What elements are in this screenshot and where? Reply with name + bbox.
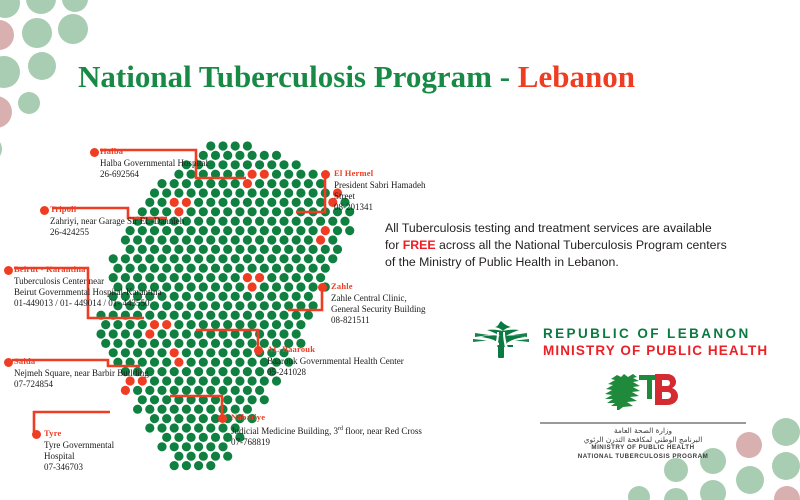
title-red-part: Lebanon <box>518 59 635 94</box>
marker-dot-icon <box>318 283 327 292</box>
center-phone: 07-768819 <box>231 437 422 448</box>
center-phone: 05-241028 <box>267 367 404 378</box>
city-name: AL-Baarouk <box>267 344 404 355</box>
ntp-english-line-2: NATIONAL TUBERCULOSIS PROGRAM <box>523 453 763 462</box>
marker-dot-icon <box>90 148 99 157</box>
ntp-arabic-line-2: البرنامج الوطني لمكافحة التدرن الرئوي <box>523 435 763 444</box>
notice-line-3: of the Ministry of Public Health in Leba… <box>385 255 619 269</box>
center-label-el-hermel: El Hermel President Sabri Hamadeh Street… <box>334 168 425 213</box>
gov-line-1: REPUBLIC OF LEBANON <box>543 325 768 342</box>
city-name: Tyre <box>44 428 114 439</box>
city-name: Zahle <box>331 281 425 292</box>
center-label-nabatiye: Nabatiye Judicial Medicine Building, 3rd… <box>231 412 422 448</box>
city-name: Halba <box>100 146 208 157</box>
city-name: Saida <box>14 356 149 367</box>
gov-line-2: MINISTRY OF PUBLIC HEALTH <box>543 342 768 359</box>
marker-dot-icon <box>254 346 263 355</box>
center-phone: 08-201341 <box>334 202 425 213</box>
center-phone: 26-692564 <box>100 169 208 180</box>
free-services-notice: All Tuberculosis testing and treatment s… <box>385 220 785 271</box>
marker-dot-icon <box>321 170 330 179</box>
center-address: Tyre Governmental <box>44 440 114 451</box>
marker-dot-icon <box>218 414 227 423</box>
poster-canvas: National Tuberculosis Program - Lebanon <box>0 0 800 500</box>
center-label-tripoli: Tripoli Zahriyi, near Garage Sir EL-Dann… <box>50 204 184 238</box>
center-phone: 07-724854 <box>14 379 149 390</box>
ntp-arabic-line-1: وزارة الصحة العامة <box>523 426 763 435</box>
republic-of-lebanon-logo: REPUBLIC OF LEBANON MINISTRY OF PUBLIC H… <box>473 318 768 365</box>
free-highlight: FREE <box>403 238 436 252</box>
address-post: floor, near Red Cross <box>343 426 422 436</box>
notice-line-1: All Tuberculosis testing and treatment s… <box>385 221 712 235</box>
center-address-2: Street <box>334 191 425 202</box>
ntp-english-line-1: MINISTRY OF PUBLIC HEALTH <box>523 444 763 453</box>
center-phone: 07-346703 <box>44 462 114 473</box>
city-name: El Hermel <box>334 168 425 179</box>
center-address: Tuberculosis Center near <box>14 276 161 287</box>
tb-cedar-icon <box>593 401 693 418</box>
center-label-halba: Halba Halba Governmental Hospital 26-692… <box>100 146 208 180</box>
address-pre: Judicial Medicine Building, 3 <box>231 426 338 436</box>
notice-line-2-rest: across all the National Tuberculosis Pro… <box>436 238 727 252</box>
marker-dot-icon <box>32 430 41 439</box>
center-label-al-baarouk: AL-Baarouk Baarouk Governmental Health C… <box>267 344 404 378</box>
gov-logo-text: REPUBLIC OF LEBANON MINISTRY OF PUBLIC H… <box>543 325 768 359</box>
cedar-tree-icon <box>473 318 529 365</box>
title-green-part: National Tuberculosis Program - <box>78 59 518 94</box>
page-title: National Tuberculosis Program - Lebanon <box>78 59 635 95</box>
center-label-zahle: Zahle Zahle Central Clinic, General Secu… <box>331 281 425 326</box>
center-address: Judicial Medicine Building, 3rd floor, n… <box>231 424 422 437</box>
center-label-tyre: Tyre Tyre Governmental Hospital 07-34670… <box>44 428 114 473</box>
center-address-2: Beirut Governmental Hospital-Karantina <box>14 287 161 298</box>
center-address: Halba Governmental Hospital <box>100 158 208 169</box>
marker-dot-icon <box>40 206 49 215</box>
city-name: Nabatiye <box>231 412 422 423</box>
center-address: Zahle Central Clinic, <box>331 293 425 304</box>
center-address: Nejmeh Square, near Barbir Building <box>14 368 149 379</box>
center-address: President Sabri Hamadeh <box>334 180 425 191</box>
center-address-2: Hospital <box>44 451 114 462</box>
notice-for: for <box>385 238 403 252</box>
center-label-beirut-karantina: Beirut - Karantina Tuberculosis Center n… <box>14 264 161 309</box>
marker-dot-icon <box>4 266 13 275</box>
divider <box>540 422 746 424</box>
tb-cedar-svg <box>593 372 693 414</box>
center-address-2: General Security Building <box>331 304 425 315</box>
center-phone: 08-821511 <box>331 315 425 326</box>
marker-dot-icon <box>4 358 13 367</box>
city-name: Beirut - Karantina <box>14 264 161 275</box>
center-address: Baarouk Governmental Health Center <box>267 356 404 367</box>
center-phone: 01-449013 / 01- 449014 / 01- 443550 <box>14 298 161 309</box>
city-name: Tripoli <box>50 204 184 215</box>
national-tb-program-logo: وزارة الصحة العامة البرنامج الوطني لمكاف… <box>523 372 763 461</box>
center-phone: 26-424255 <box>50 227 184 238</box>
center-label-saida: Saida Nejmeh Square, near Barbir Buildin… <box>14 356 149 390</box>
center-address: Zahriyi, near Garage Sir EL-Dannieh <box>50 216 184 227</box>
cedar-tree-svg <box>473 318 529 360</box>
